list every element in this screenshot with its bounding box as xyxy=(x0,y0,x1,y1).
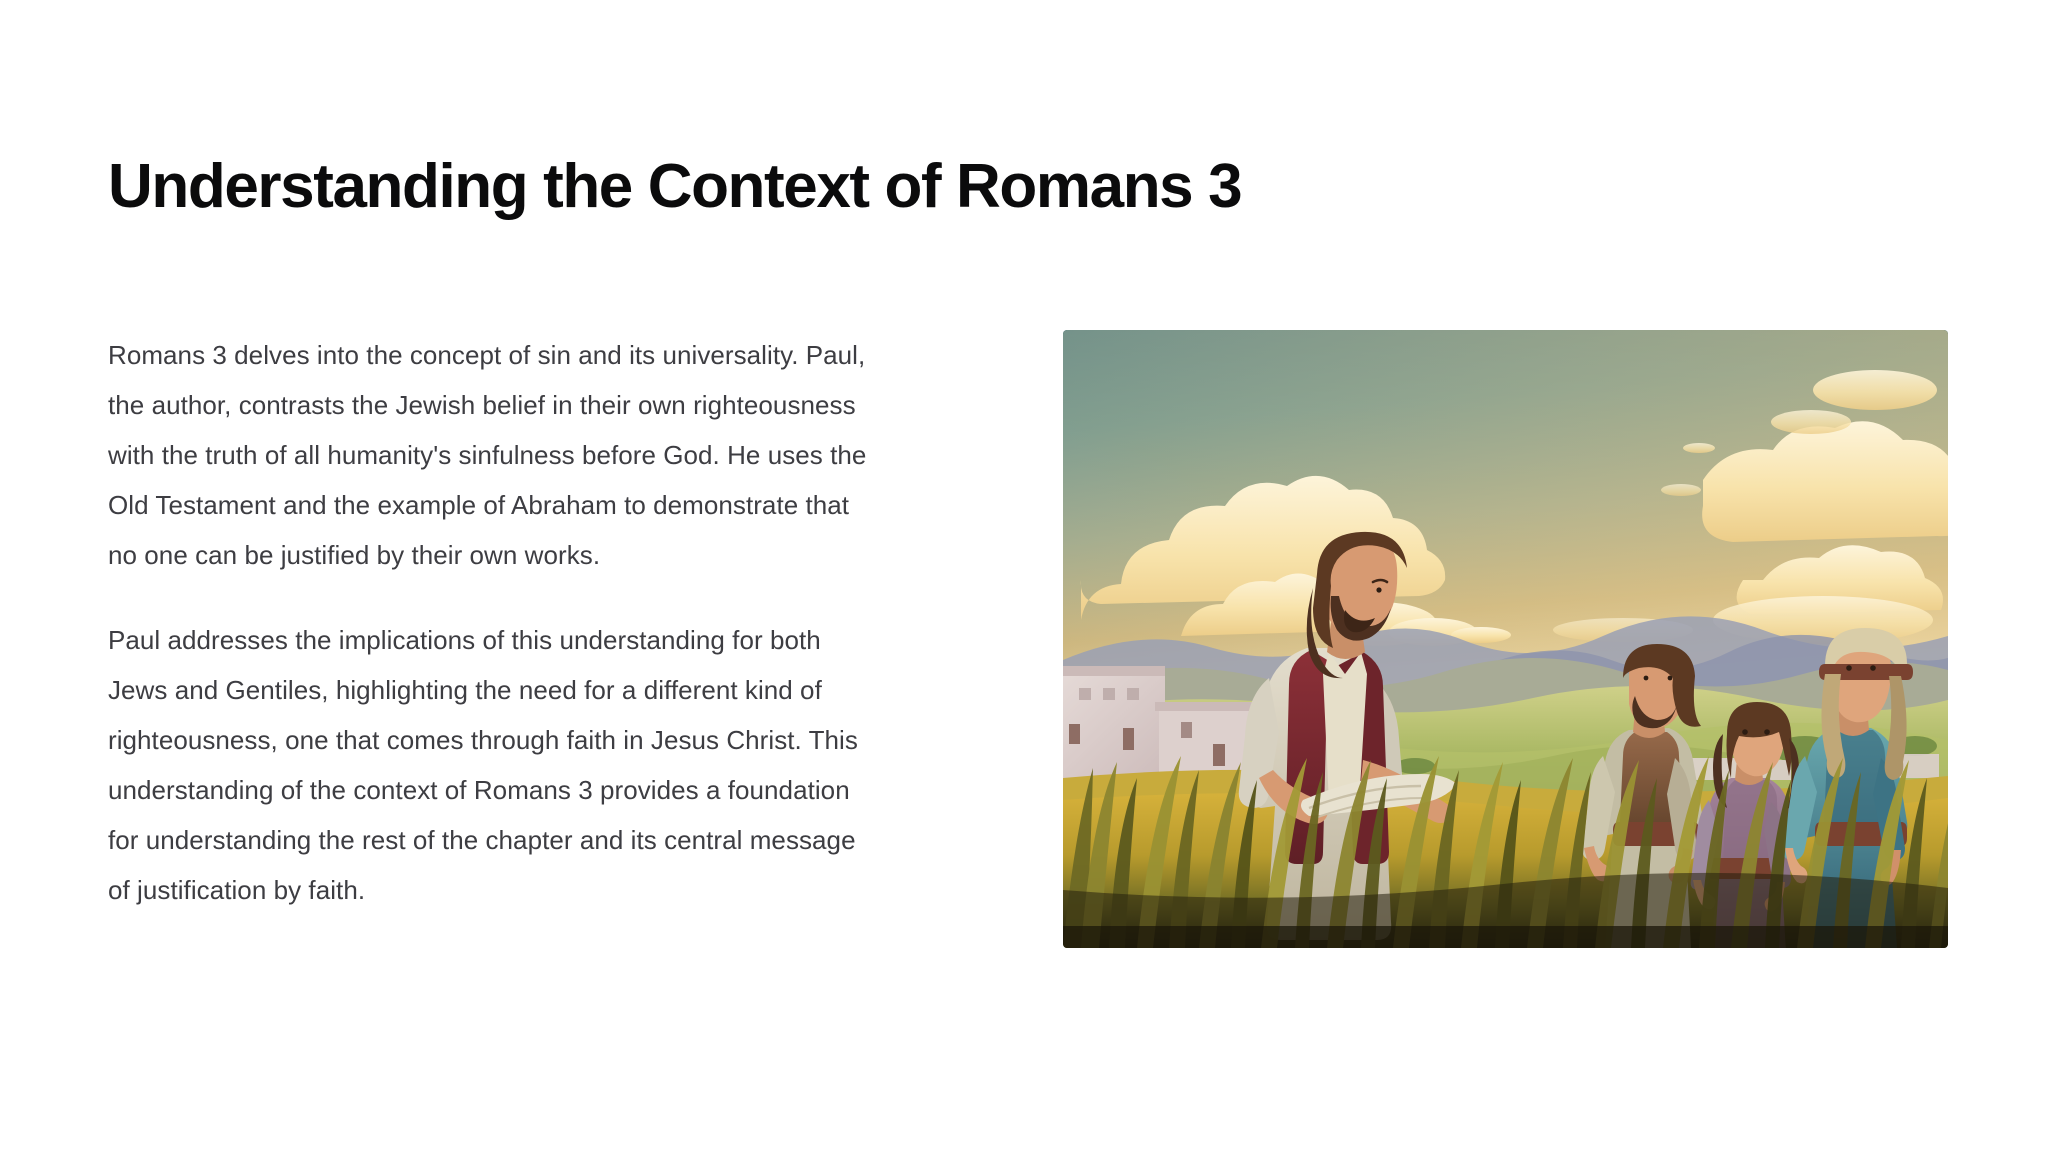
page-title: Understanding the Context of Romans 3 xyxy=(108,150,1241,224)
article-paragraph-2: Paul addresses the implications of this … xyxy=(108,615,878,915)
biblical-teaching-scene-illustration xyxy=(1063,330,1948,948)
article-page: Understanding the Context of Romans 3 Ro… xyxy=(0,0,2048,1152)
article-paragraph-1: Romans 3 delves into the concept of sin … xyxy=(108,330,878,580)
article-content: Romans 3 delves into the concept of sin … xyxy=(108,330,1948,948)
article-text-column: Romans 3 delves into the concept of sin … xyxy=(108,330,998,915)
article-figure-column xyxy=(1063,330,1948,948)
